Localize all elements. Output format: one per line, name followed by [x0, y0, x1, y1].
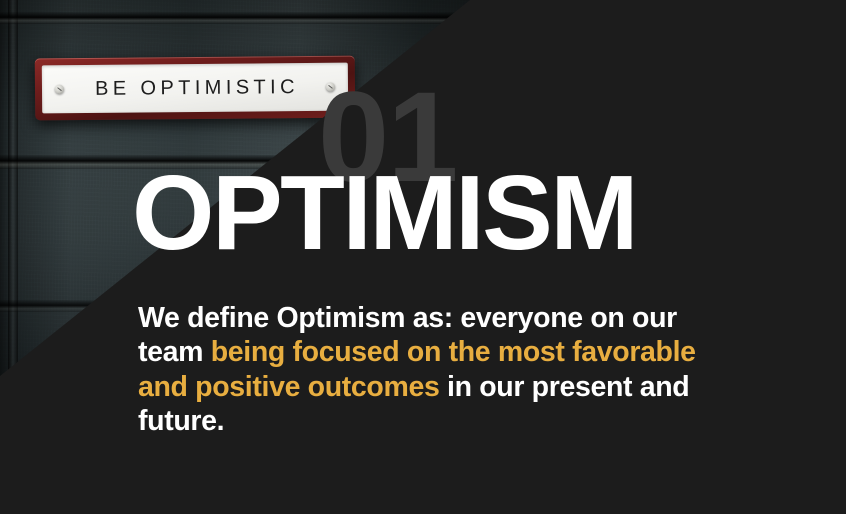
screw-icon [55, 85, 64, 94]
page-title: OPTIMISM [132, 160, 636, 266]
enamel-sign-text: BE OPTIMISTIC [91, 76, 299, 101]
slide-canvas: BE OPTIMISTIC 01 OPTIMISM We define Opti… [0, 0, 846, 514]
enamel-sign-face: BE OPTIMISTIC [42, 63, 348, 114]
enamel-sign: BE OPTIMISTIC [35, 56, 356, 121]
body-paragraph: We define Optimism as: everyone on our t… [138, 301, 722, 439]
